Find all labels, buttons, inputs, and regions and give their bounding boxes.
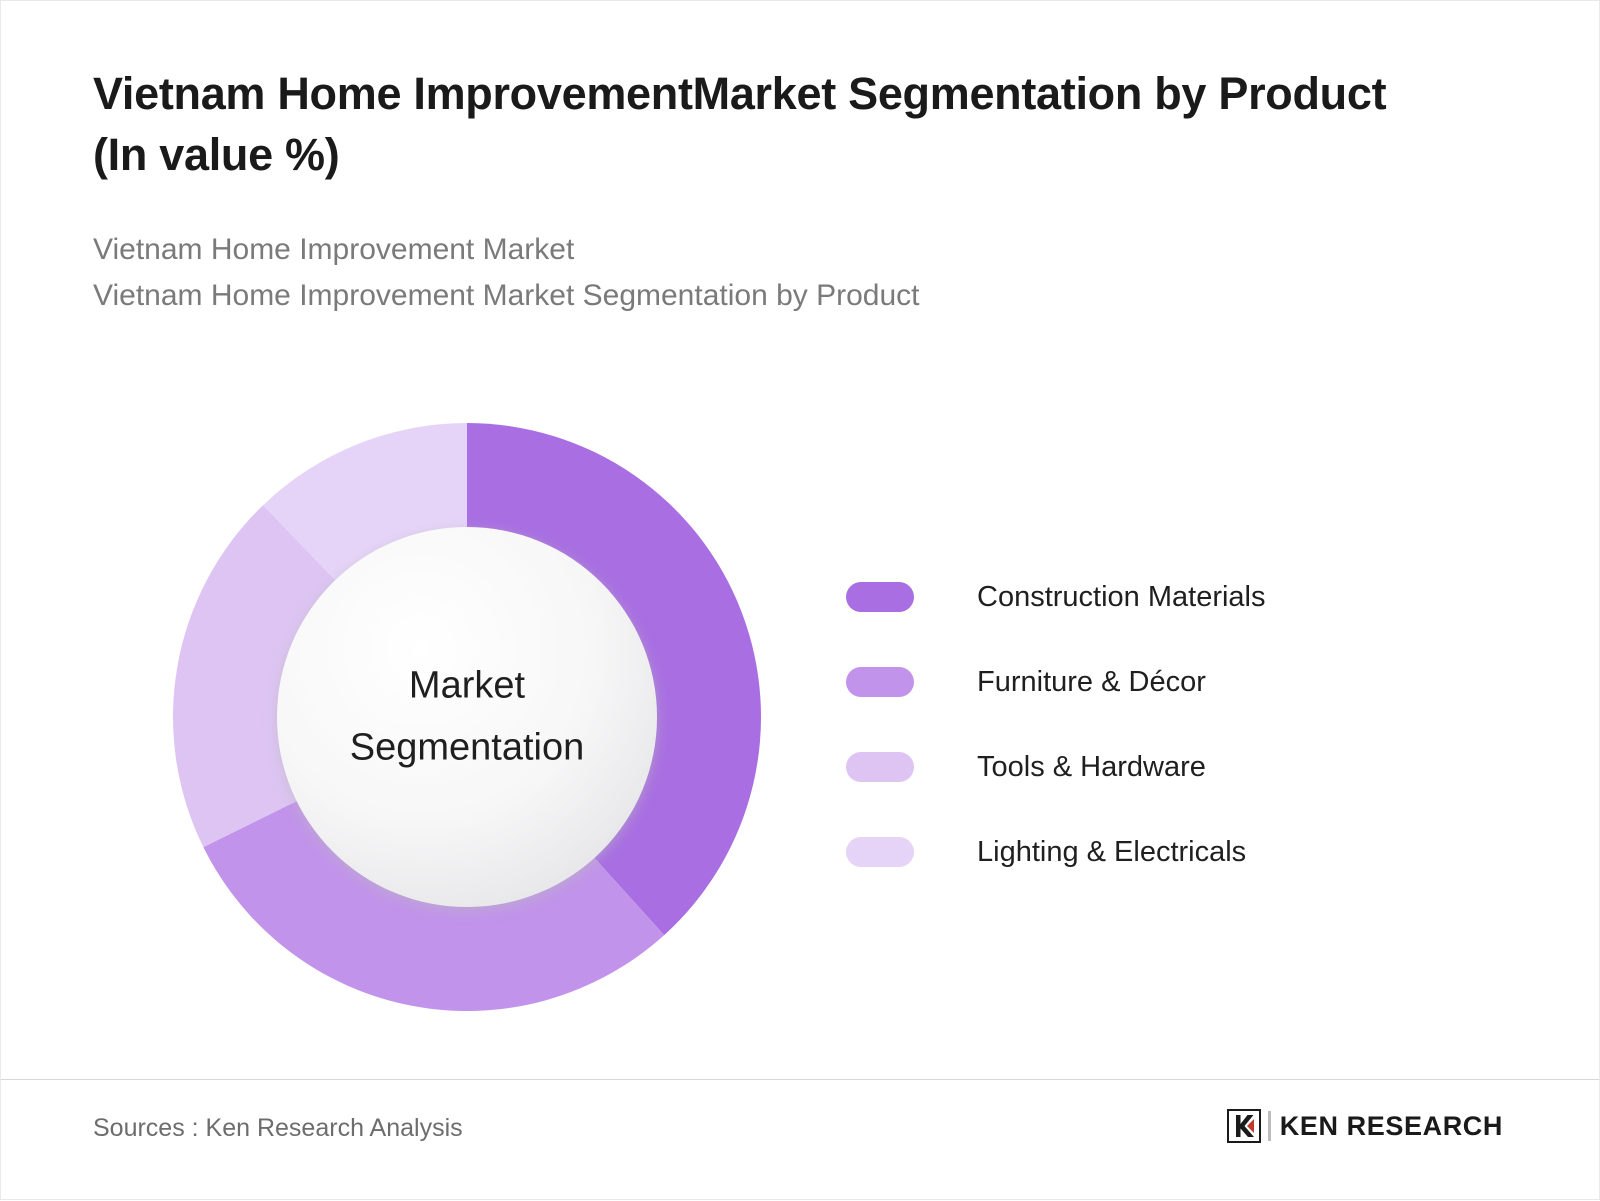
legend-item-lighting-electricals[interactable]: Lighting & Electricals [846, 824, 1266, 880]
legend-swatch-icon [846, 582, 914, 612]
legend-item-label: Furniture & Décor [977, 666, 1206, 699]
legend-item-label: Construction Materials [977, 581, 1266, 614]
legend-swatch-icon [846, 837, 914, 867]
legend-item-tools-hardware[interactable]: Tools & Hardware [846, 739, 1266, 795]
legend-item-label: Lighting & Electricals [977, 836, 1246, 869]
legend-item-label: Tools & Hardware [977, 751, 1206, 784]
footer: Sources : Ken Research Analysis KEN RESE… [1, 1080, 1599, 1201]
chart-area: Market Segmentation Construction Materia… [1, 391, 1600, 1051]
donut-chart: Market Segmentation [173, 423, 761, 1011]
subtitle-line-1: Vietnam Home Improvement Market [93, 227, 1433, 273]
chart-legend: Construction Materials Furniture & Décor… [846, 569, 1266, 880]
legend-swatch-icon [846, 752, 914, 782]
donut-svg [173, 423, 761, 1011]
header: Vietnam Home ImprovementMarket Segmentat… [93, 63, 1433, 319]
slide-canvas: Vietnam Home ImprovementMarket Segmentat… [0, 0, 1600, 1200]
logo-divider [1268, 1111, 1271, 1141]
sources-note: Sources : Ken Research Analysis [93, 1114, 463, 1143]
page-title: Vietnam Home ImprovementMarket Segmentat… [93, 63, 1433, 185]
subtitle-line-2: Vietnam Home Improvement Market Segmenta… [93, 273, 1433, 319]
ken-research-logo: KEN RESEARCH [1227, 1106, 1503, 1146]
donut-center-disc [277, 527, 657, 907]
legend-swatch-icon [846, 667, 914, 697]
logo-wordmark: KEN RESEARCH [1280, 1111, 1503, 1142]
legend-item-construction-materials[interactable]: Construction Materials [846, 569, 1266, 625]
ken-research-k-icon [1227, 1109, 1261, 1143]
legend-item-furniture-decor[interactable]: Furniture & Décor [846, 654, 1266, 710]
page-subtitle: Vietnam Home Improvement Market Vietnam … [93, 227, 1433, 318]
